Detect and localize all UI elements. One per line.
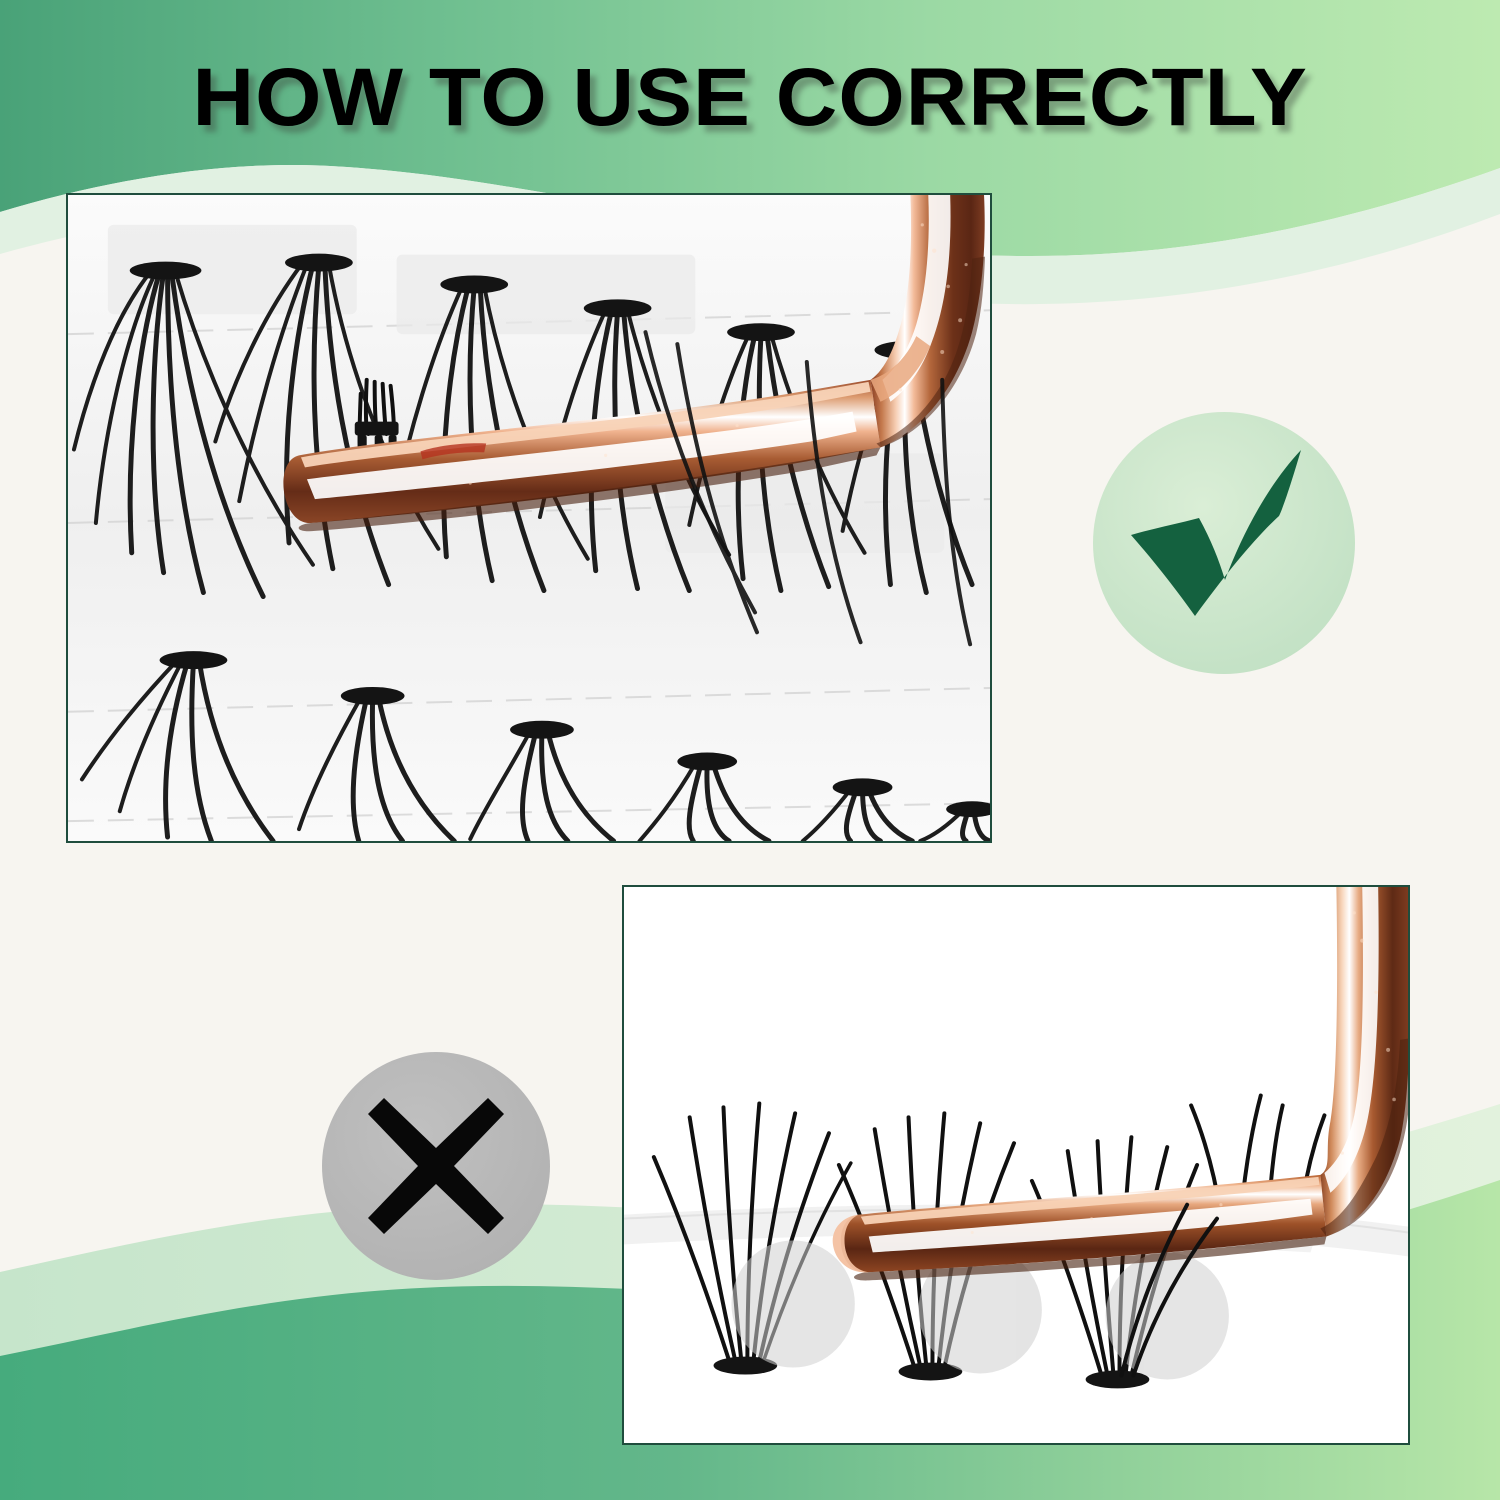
infographic-stage: HOW TO USE CORRECTLY xyxy=(0,0,1500,1500)
correct-badge xyxy=(1093,412,1355,674)
incorrect-usage-photo xyxy=(622,885,1410,1445)
correct-usage-illustration xyxy=(68,195,990,841)
incorrect-usage-illustration xyxy=(624,887,1408,1443)
incorrect-badge xyxy=(322,1052,550,1280)
cross-icon xyxy=(322,1052,550,1280)
correct-usage-photo xyxy=(66,193,992,843)
check-icon xyxy=(1093,412,1355,674)
